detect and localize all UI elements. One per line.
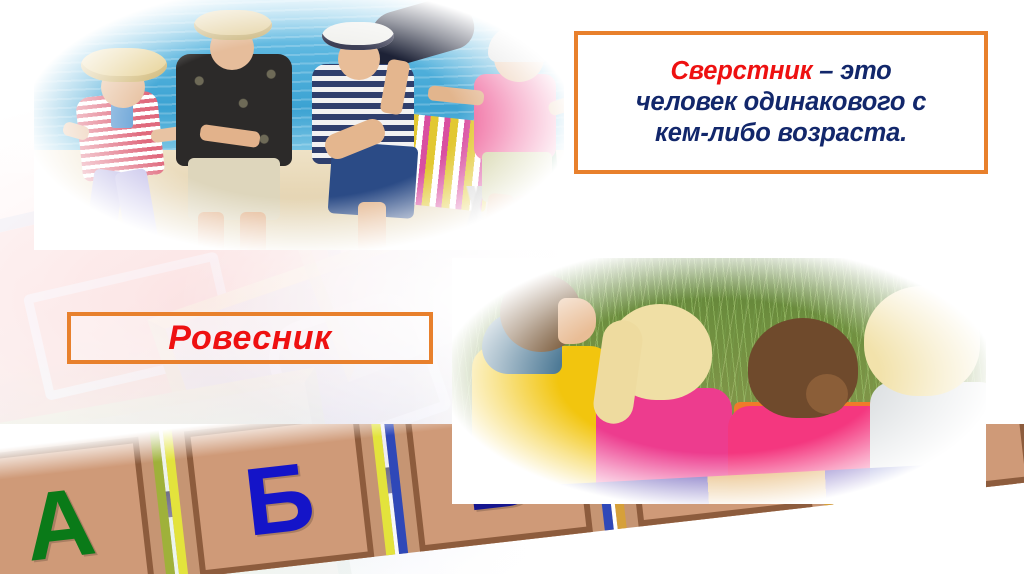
photo-elderly-people-dancing-on-beach: [34, 0, 564, 250]
rovesnik-label: Ровесник: [168, 319, 331, 358]
block-letter: А: [20, 474, 100, 574]
definition-line-3: кем-либо возраста.: [655, 119, 907, 147]
face: [558, 298, 596, 344]
person-man-with-boogie-board: [306, 6, 466, 248]
grey-hair: [488, 26, 550, 62]
head: [864, 286, 980, 396]
shorts: [188, 158, 280, 220]
person-woman-pink-top: [452, 26, 564, 248]
leg: [483, 193, 515, 249]
definition-dash: – это: [812, 57, 891, 85]
hair-bun: [806, 374, 848, 414]
straw-hat: [194, 10, 272, 40]
beach-scene-artwork: [34, 0, 564, 250]
rovesnik-textbox: Ровесник: [67, 312, 433, 364]
person-man-patterned-shirt: [164, 8, 314, 248]
leg: [358, 202, 386, 250]
sun-hat: [81, 48, 167, 82]
leg: [198, 212, 224, 250]
definition-text: Сверстник – это человек одинакового с ке…: [636, 56, 926, 149]
torso: [176, 54, 292, 166]
photo-four-children-sitting-in-grass: [452, 258, 986, 504]
white-hat: [322, 22, 394, 50]
torso: [474, 74, 556, 160]
definition-textbox: Сверстник – это человек одинакового с ке…: [574, 31, 988, 174]
leg: [114, 168, 159, 250]
block-letter: Б: [240, 449, 319, 552]
definition-line-2: человек одинакового с: [636, 88, 926, 116]
definition-term: Сверстник: [670, 57, 812, 85]
leg: [240, 212, 266, 250]
slide-canvas: А Б В Г Д: [0, 0, 1024, 574]
